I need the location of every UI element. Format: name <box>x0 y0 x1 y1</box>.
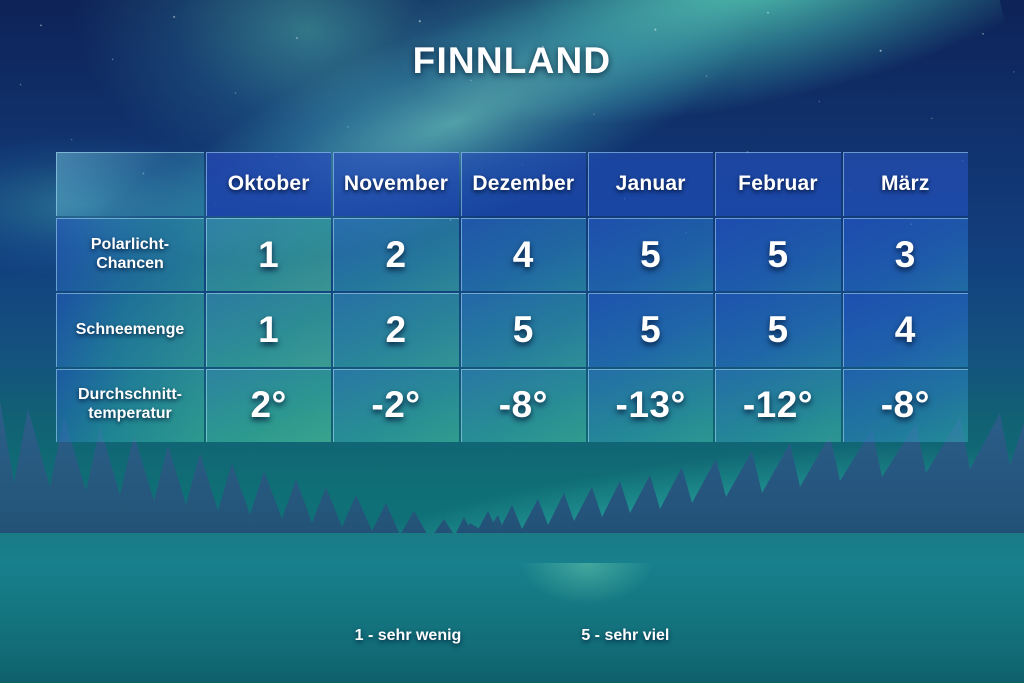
cell-temp-februar: -12° <box>715 369 840 442</box>
row-label-schneemenge: Schneemenge <box>56 293 204 366</box>
table-corner-cell <box>56 152 204 216</box>
cell-polarlicht-oktober: 1 <box>206 218 331 291</box>
cell-polarlicht-maerz: 3 <box>843 218 968 291</box>
column-header-maerz: März <box>843 152 968 216</box>
cell-polarlicht-januar: 5 <box>588 218 713 291</box>
column-header-november: November <box>333 152 458 216</box>
cell-polarlicht-dezember: 4 <box>461 218 586 291</box>
climate-table-wrapper: Oktober November Dezember Januar Februar… <box>54 150 970 444</box>
table-row: Durchschnitt- temperatur 2° -2° -8° -13°… <box>56 369 968 442</box>
cell-temp-dezember: -8° <box>461 369 586 442</box>
aurora-water-reflection <box>492 563 682 683</box>
legend-item-low: 1 - sehr wenig <box>355 627 462 645</box>
column-header-oktober: Oktober <box>206 152 331 216</box>
cell-temp-maerz: -8° <box>843 369 968 442</box>
legend-item-high: 5 - sehr viel <box>581 627 669 645</box>
row-label-line-2: Chancen <box>96 255 164 272</box>
column-header-februar: Februar <box>715 152 840 216</box>
infographic-poster: FINNLAND Oktober November Dezember Janua… <box>0 0 1024 683</box>
row-label-line-1: Durchschnitt- <box>78 386 182 403</box>
cell-temp-november: -2° <box>333 369 458 442</box>
row-label-line-2: temperatur <box>88 405 172 422</box>
cell-temp-januar: -13° <box>588 369 713 442</box>
page-title: FINNLAND <box>0 40 1024 82</box>
row-label-line-1: Polarlicht- <box>91 236 169 253</box>
table-row: Polarlicht- Chancen 1 2 4 5 5 3 <box>56 218 968 291</box>
cell-polarlicht-november: 2 <box>333 218 458 291</box>
scale-legend: 1 - sehr wenig 5 - sehr viel <box>0 627 1024 645</box>
cell-schnee-november: 2 <box>333 293 458 366</box>
climate-table: Oktober November Dezember Januar Februar… <box>54 150 970 444</box>
cell-schnee-maerz: 4 <box>843 293 968 366</box>
row-label-line-1: Schneemenge <box>76 321 184 338</box>
cell-schnee-februar: 5 <box>715 293 840 366</box>
cell-schnee-dezember: 5 <box>461 293 586 366</box>
column-header-dezember: Dezember <box>461 152 586 216</box>
row-label-polarlicht-chancen: Polarlicht- Chancen <box>56 218 204 291</box>
column-header-januar: Januar <box>588 152 713 216</box>
row-label-durchschnittstemperatur: Durchschnitt- temperatur <box>56 369 204 442</box>
cell-schnee-januar: 5 <box>588 293 713 366</box>
cell-temp-oktober: 2° <box>206 369 331 442</box>
cell-polarlicht-februar: 5 <box>715 218 840 291</box>
cell-schnee-oktober: 1 <box>206 293 331 366</box>
table-header-row: Oktober November Dezember Januar Februar… <box>56 152 968 216</box>
table-row: Schneemenge 1 2 5 5 5 4 <box>56 293 968 366</box>
